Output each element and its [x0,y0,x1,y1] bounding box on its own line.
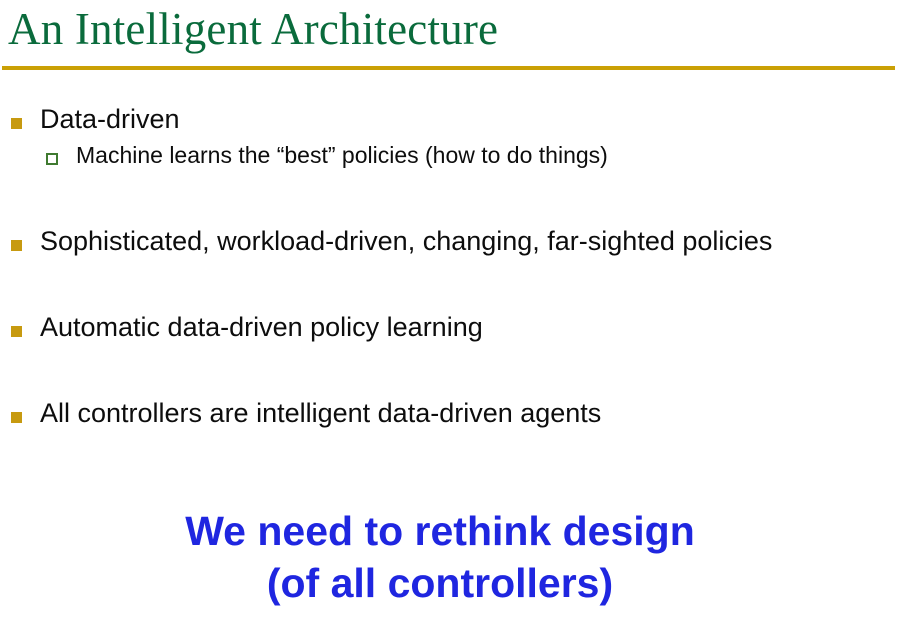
bullet-item-data-driven: Data-driven [0,100,917,138]
slide-title: An Intelligent Architecture [8,0,498,60]
bullet-text: Machine learns the “best” policies (how … [76,138,917,172]
bullet-spacer [0,346,917,394]
bullet-text: Data-driven [40,100,917,138]
emphasis-line-2: (of all controllers) [0,557,880,609]
bullet-list: Data-driven Machine learns the “best” po… [0,100,917,432]
filled-square-bullet-icon [11,240,22,251]
filled-square-bullet-icon [11,118,22,129]
filled-square-bullet-icon [11,412,22,423]
emphasis-line-1: We need to rethink design [0,505,880,557]
bullet-item-controllers-are-agents: All controllers are intelligent data-dri… [0,394,917,432]
filled-square-bullet-icon [11,326,22,337]
bullet-item-sophisticated-policies: Sophisticated, workload-driven, changing… [0,222,917,260]
hollow-square-bullet-icon [46,153,58,165]
emphasis-callout: We need to rethink design (of all contro… [0,505,880,609]
bullet-item-automatic-policy-learning: Automatic data-driven policy learning [0,308,917,346]
bullet-item-machine-learns: Machine learns the “best” policies (how … [0,138,917,172]
bullet-spacer [0,260,917,308]
bullet-spacer [0,172,917,222]
bullet-text: All controllers are intelligent data-dri… [40,394,917,432]
bullet-text: Sophisticated, workload-driven, changing… [40,222,917,260]
bullet-text: Automatic data-driven policy learning [40,308,917,346]
title-divider-rule [2,66,895,70]
